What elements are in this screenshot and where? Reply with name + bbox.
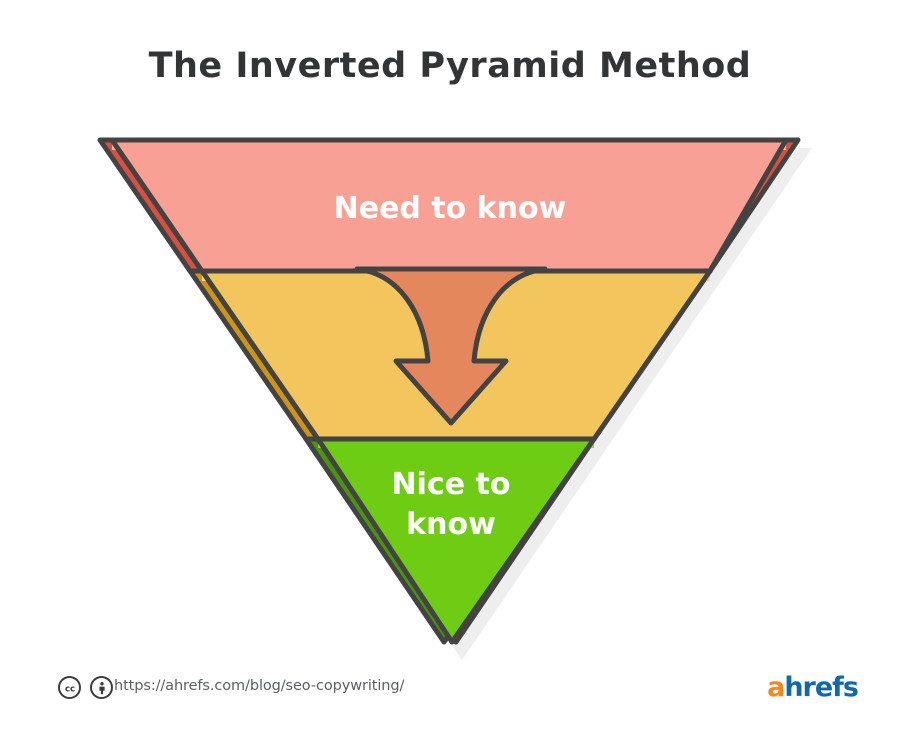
- pyramid-svg: Need to know Nice to know: [0, 118, 900, 663]
- ahrefs-logo-accent: a: [767, 672, 784, 703]
- svg-text:cc: cc: [64, 684, 74, 694]
- source-url[interactable]: https://ahrefs.com/blog/seo-copywriting/: [114, 678, 404, 694]
- license-group: cc: [58, 676, 113, 699]
- band-label-nice-to-know-line2: know: [406, 507, 496, 542]
- creative-commons-by-icon: [90, 676, 113, 699]
- band-label-need-to-know: Need to know: [334, 191, 567, 226]
- ahrefs-logo: ahrefs: [767, 674, 858, 701]
- inverted-pyramid-diagram: Need to know Nice to know: [0, 118, 900, 663]
- ahrefs-logo-text: hrefs: [784, 672, 858, 703]
- band-label-nice-to-know-line1: Nice to: [392, 467, 511, 502]
- page-title: The Inverted Pyramid Method: [0, 46, 900, 86]
- footer: cc https://ahrefs.com/blog/seo-copywriti…: [0, 662, 900, 754]
- creative-commons-icon: cc: [58, 676, 81, 699]
